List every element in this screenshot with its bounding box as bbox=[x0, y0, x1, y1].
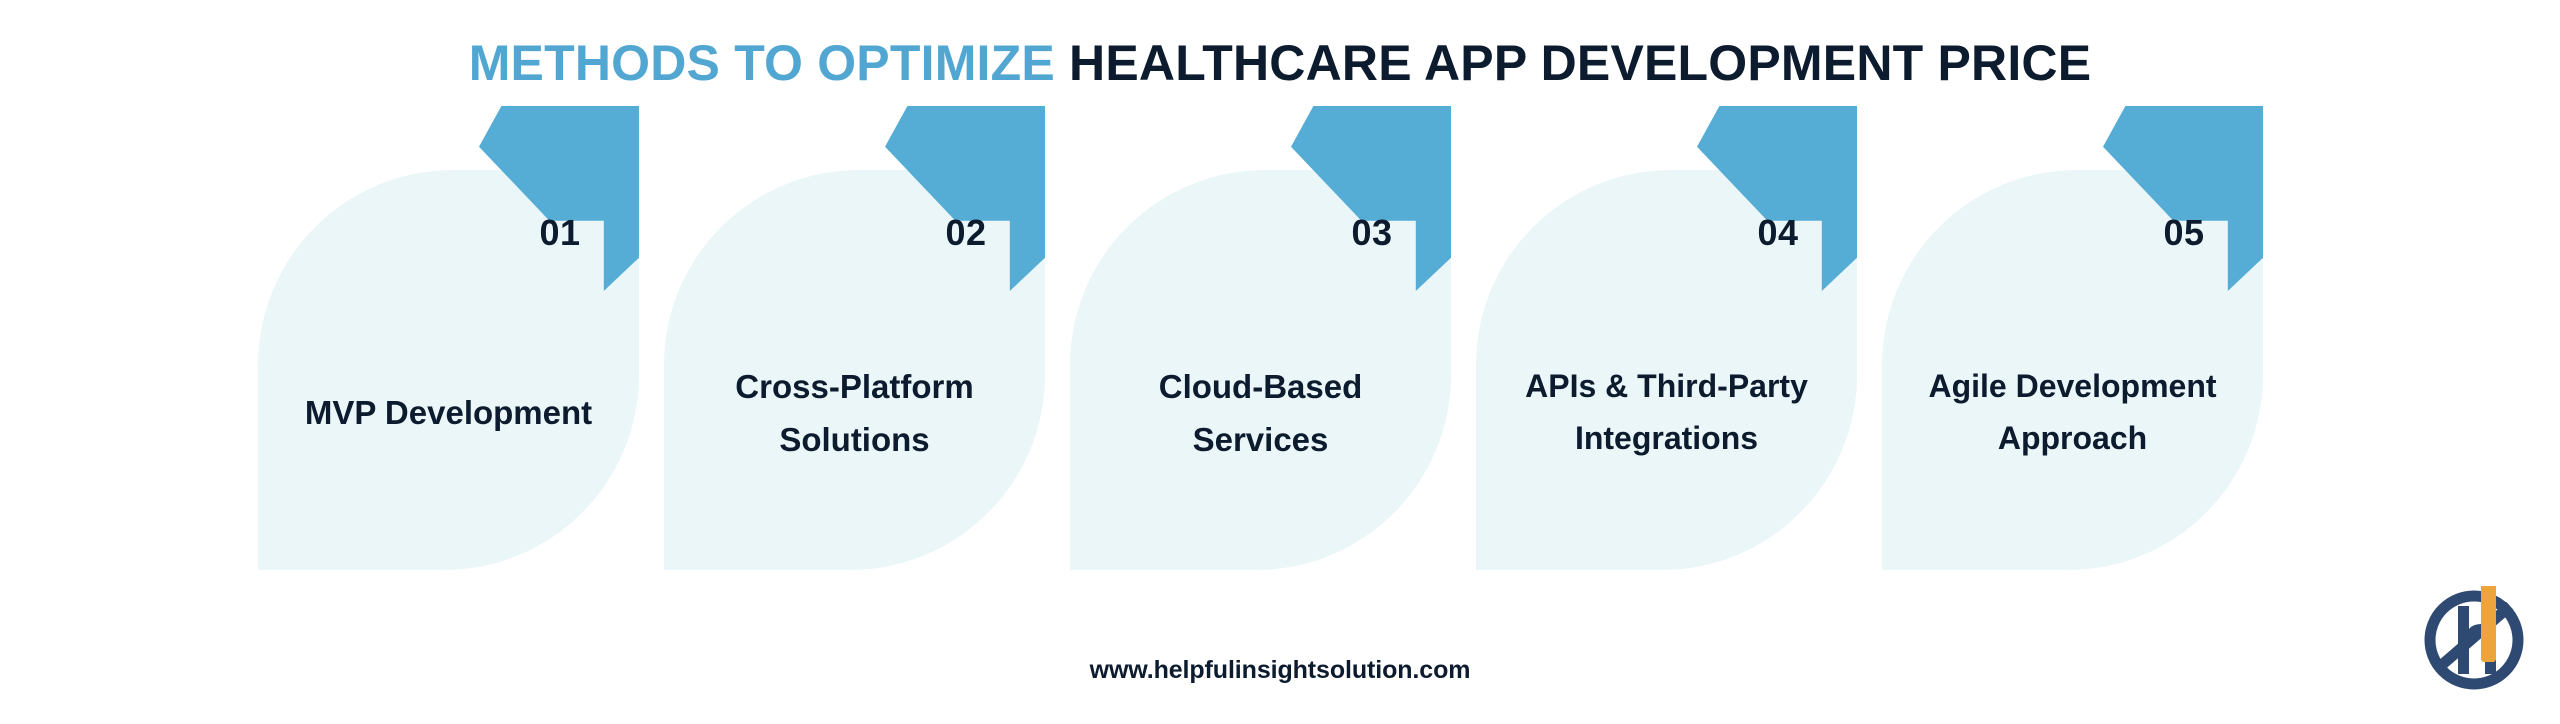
card-label: Cross-Platform Solutions bbox=[690, 288, 1019, 538]
card-number-badge: 05 bbox=[2118, 215, 2250, 251]
page-title-main: HEALTHCARE APP DEVELOPMENT PRICE bbox=[1069, 35, 2091, 91]
page-title: METHODS TO OPTIMIZE HEALTHCARE APP DEVEL… bbox=[0, 36, 2560, 91]
method-card-04[interactable]: 04 APIs & Third-Party Integrations bbox=[1476, 170, 1857, 570]
card-number-badge: 02 bbox=[900, 215, 1032, 251]
card-label: Cloud-Based Services bbox=[1096, 288, 1425, 538]
footer-website-url[interactable]: www.helpfulinsightsolution.com bbox=[0, 656, 2560, 685]
card-number-badge: 01 bbox=[494, 215, 626, 251]
method-card-02[interactable]: 02 Cross-Platform Solutions bbox=[664, 170, 1045, 570]
page-title-accent: METHODS TO OPTIMIZE bbox=[469, 35, 1069, 91]
card-number-badge: 03 bbox=[1306, 215, 1438, 251]
method-card-01[interactable]: 01 MVP Development bbox=[258, 170, 639, 570]
page-title-text: METHODS TO OPTIMIZE HEALTHCARE APP DEVEL… bbox=[469, 36, 2092, 91]
card-number-badge: 04 bbox=[1712, 215, 1844, 251]
method-card-05[interactable]: 05 Agile Development Approach bbox=[1882, 170, 2263, 570]
card-label: APIs & Third-Party Integrations bbox=[1502, 288, 1831, 538]
brand-logo-icon[interactable] bbox=[2418, 562, 2538, 692]
method-card-03[interactable]: 03 Cloud-Based Services bbox=[1070, 170, 1451, 570]
methods-card-list: 01 MVP Development 02 Cross-Platform Sol… bbox=[258, 170, 2316, 570]
card-label: MVP Development bbox=[284, 288, 613, 538]
card-label: Agile Development Approach bbox=[1908, 288, 2237, 538]
infographic-canvas: METHODS TO OPTIMIZE HEALTHCARE APP DEVEL… bbox=[0, 0, 2560, 724]
